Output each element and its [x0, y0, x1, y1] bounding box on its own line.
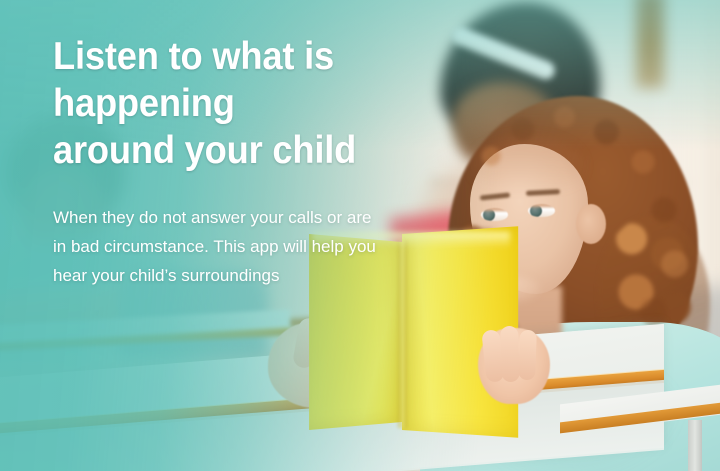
headline: Listen to what is happening around your … — [53, 33, 490, 174]
hero-copy: Listen to what is happening around your … — [53, 33, 523, 290]
finger — [518, 330, 537, 381]
hero-banner: Listen to what is happening around your … — [0, 0, 720, 471]
subheadline: When they do not answer your calls or ar… — [53, 174, 523, 290]
side-desk-leg — [688, 420, 702, 471]
door-frame — [636, 0, 664, 88]
finger — [500, 326, 520, 383]
